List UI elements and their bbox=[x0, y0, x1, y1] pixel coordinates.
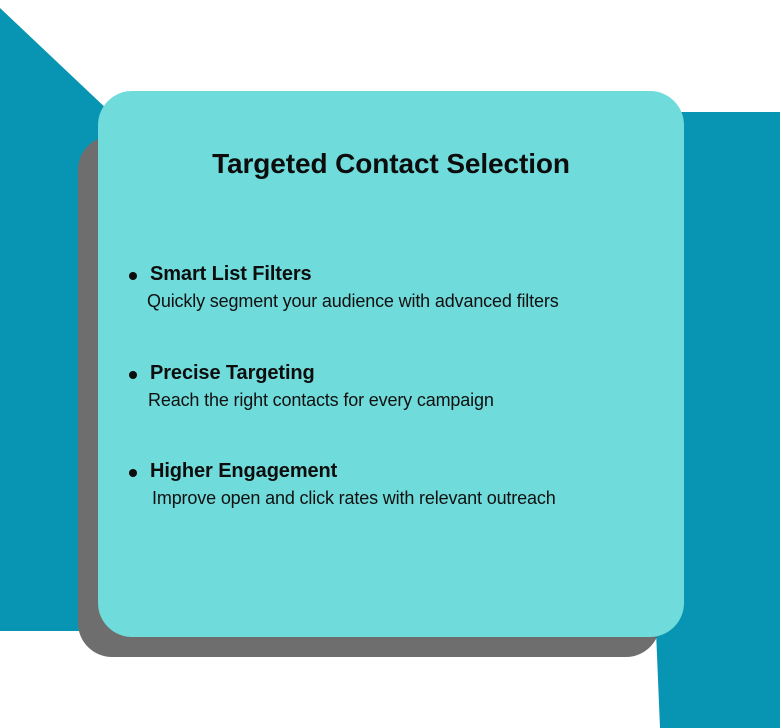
feature-description: Improve open and click rates with releva… bbox=[98, 488, 684, 510]
feature-list: Smart List Filters Quickly segment your … bbox=[98, 263, 684, 510]
list-item: Precise Targeting Reach the right contac… bbox=[98, 362, 684, 412]
bullet-dot-icon bbox=[129, 371, 137, 379]
feature-description: Reach the right contacts for every campa… bbox=[98, 390, 684, 412]
list-item: Smart List Filters Quickly segment your … bbox=[98, 263, 684, 313]
page-title: Targeted Contact Selection bbox=[98, 149, 684, 180]
slide-canvas: Targeted Contact Selection Smart List Fi… bbox=[0, 0, 780, 728]
feature-heading: Higher Engagement bbox=[98, 460, 684, 483]
feature-description: Quickly segment your audience with advan… bbox=[98, 291, 684, 313]
feature-heading: Precise Targeting bbox=[98, 362, 684, 385]
feature-card: Targeted Contact Selection Smart List Fi… bbox=[98, 91, 684, 637]
list-item: Higher Engagement Improve open and click… bbox=[98, 460, 684, 510]
bullet-dot-icon bbox=[129, 272, 137, 280]
feature-heading: Smart List Filters bbox=[98, 263, 684, 286]
